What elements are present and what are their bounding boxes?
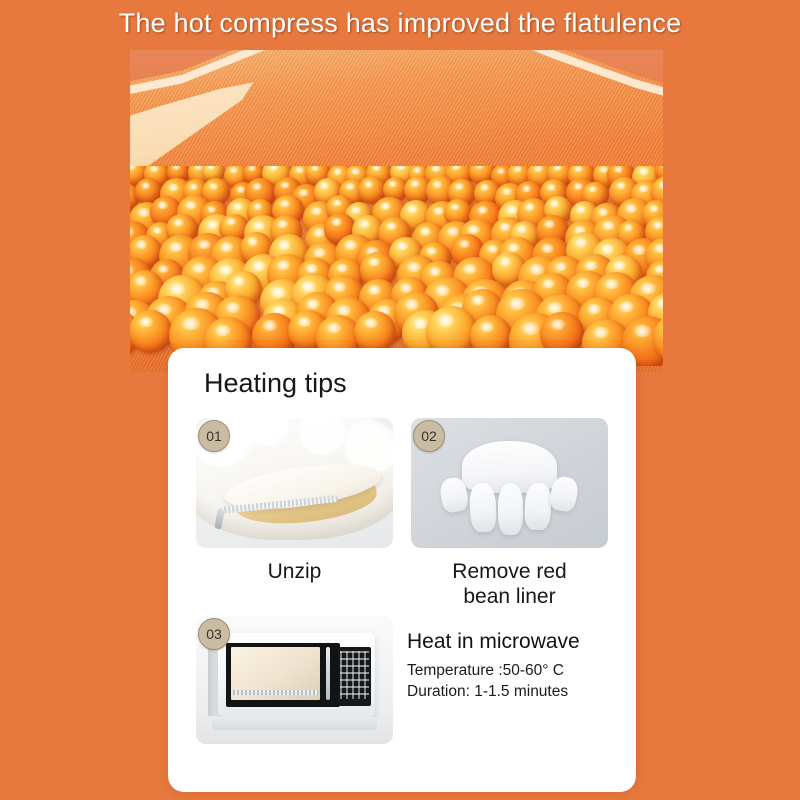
step-02-label-line1: Remove red (411, 560, 608, 585)
microwave-rack (233, 690, 318, 695)
step-01: 01 Unzip (196, 418, 393, 610)
card-title: Heating tips (204, 368, 347, 399)
step-01-label: Unzip (196, 560, 393, 585)
bead (130, 310, 172, 353)
step-03-title: Heat in microwave (407, 630, 580, 654)
step-02-label-line2: bean liner (411, 585, 608, 610)
step-02-label: Remove red bean liner (411, 560, 608, 610)
bead-field (130, 166, 663, 366)
steps-row: 01 Unzip 02 Remove red bean (196, 418, 608, 610)
step-03-temperature: Temperature :50-60° C (407, 661, 580, 682)
liner-finger-icon (524, 482, 552, 530)
step-03-duration: Duration: 1-1.5 minutes (407, 682, 580, 703)
microwave-keypad-icon (340, 651, 370, 700)
liner-finger-icon (498, 483, 524, 535)
step-02: 02 Remove red bean liner (411, 418, 608, 610)
step-01-badge: 01 (198, 420, 230, 452)
step-03-details: Temperature :50-60° C Duration: 1-1.5 mi… (407, 661, 580, 703)
microwave-base (212, 717, 377, 730)
step-03-image: 03 (196, 616, 393, 744)
step-03: 03 Heat in microwave Temperature :50-60°… (196, 616, 616, 744)
step-03-badge: 03 (198, 618, 230, 650)
step-01-image: 01 (196, 418, 393, 548)
hero-image (130, 50, 663, 372)
step-03-text: Heat in microwave Temperature :50-60° C … (407, 616, 580, 703)
step-02-image: 02 (411, 418, 608, 548)
product-infographic: The hot compress has improved the flatul… (0, 0, 800, 800)
step-02-badge: 02 (413, 420, 445, 452)
microwave-handle (326, 647, 330, 701)
heating-tips-card: Heating tips 01 Unzip (168, 348, 636, 792)
page-title: The hot compress has improved the flatul… (0, 8, 800, 39)
liner-finger-icon (469, 482, 497, 533)
